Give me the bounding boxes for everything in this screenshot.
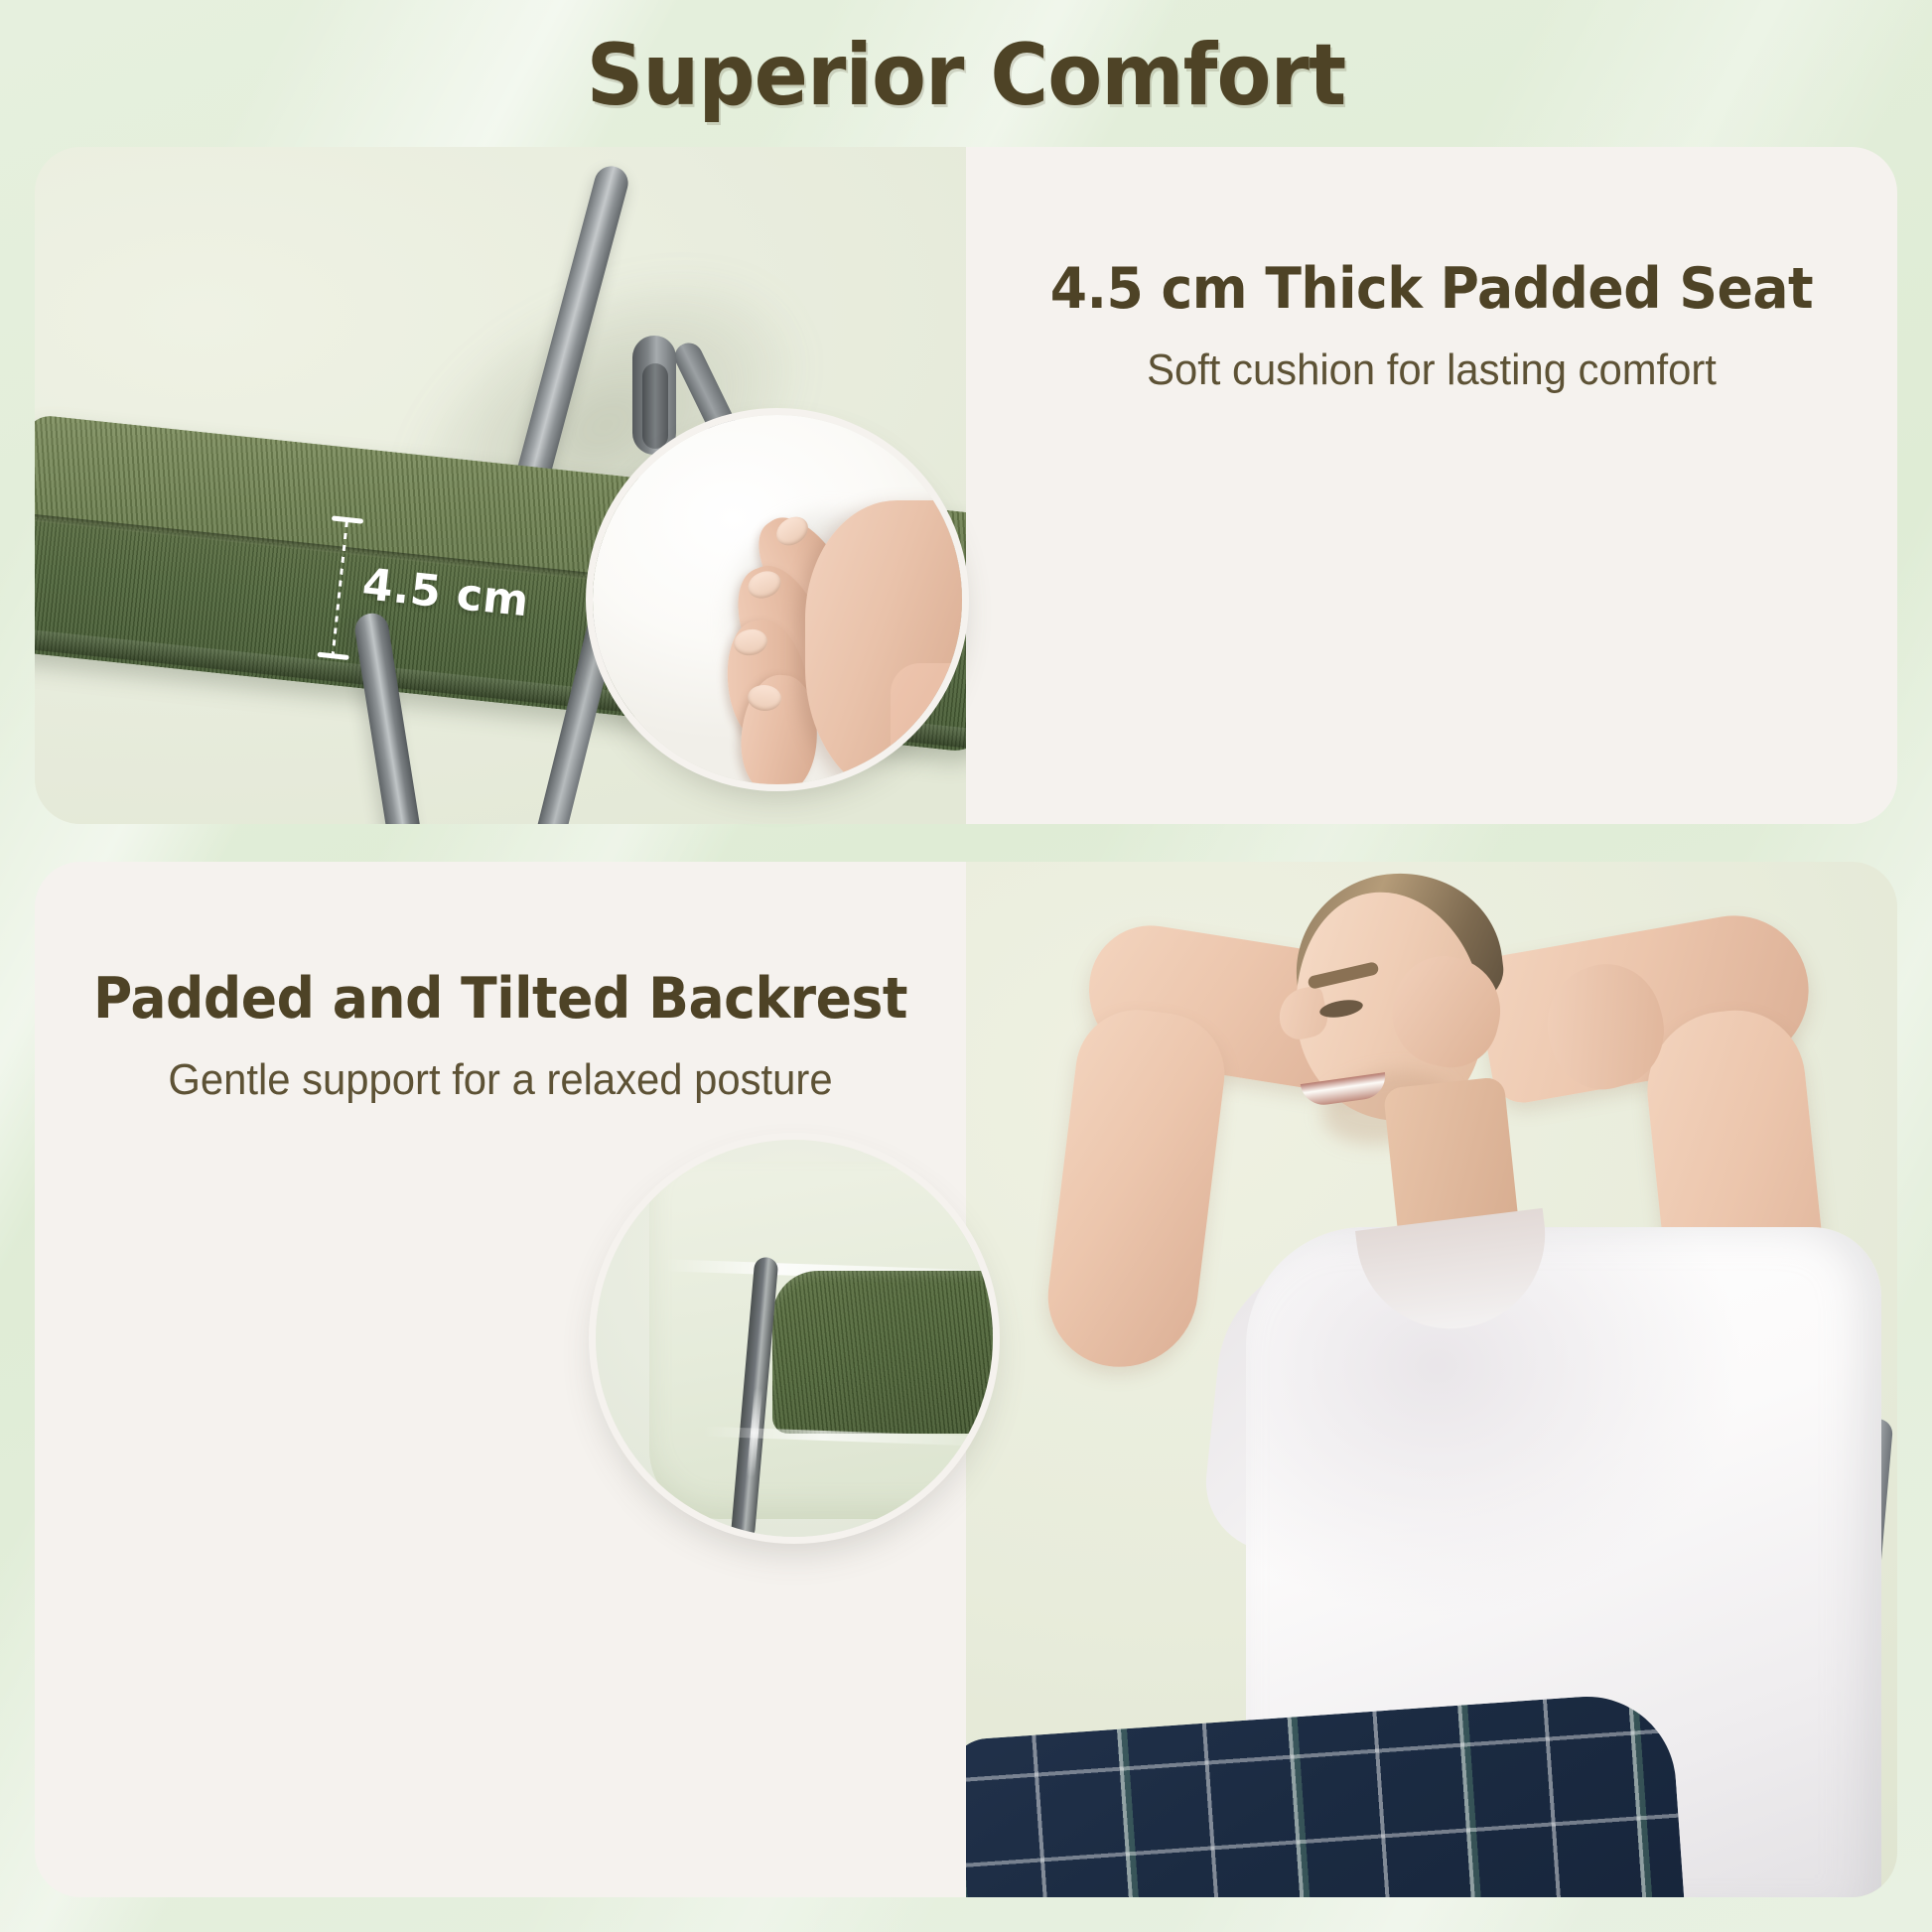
measurement-label: 4.5 cm (360, 559, 532, 626)
padded-seat-subheading: Soft cushion for lasting comfort (989, 345, 1873, 395)
man-figure (966, 862, 1897, 1897)
wrist (891, 663, 962, 784)
seat-thickness-measurement: 4.5 cm (330, 505, 584, 698)
backrest-subheading: Gentle support for a relaxed posture (58, 1055, 942, 1105)
padded-seat-heading: 4.5 cm Thick Padded Seat (994, 256, 1869, 322)
arm-left-lower (1040, 1003, 1232, 1376)
man-relaxing-photo (966, 862, 1897, 1897)
plaid-pajama-pants (966, 1691, 1691, 1897)
backrest-closeup-inset (596, 1140, 993, 1537)
hand-pressing-foam-inset (593, 415, 962, 784)
hand-illustration (593, 415, 962, 784)
feature-card-padded-seat: 4.5 cm 4.5 cm Thick Padded Seat Soft cus… (35, 147, 1897, 824)
padded-seat-text-pane: 4.5 cm Thick Padded Seat Soft cushion fo… (966, 147, 1897, 824)
backrest-heading: Padded and Tilted Backrest (63, 966, 938, 1032)
backrest-green-pad (772, 1271, 993, 1434)
page-title: Superior Comfort (68, 26, 1864, 125)
